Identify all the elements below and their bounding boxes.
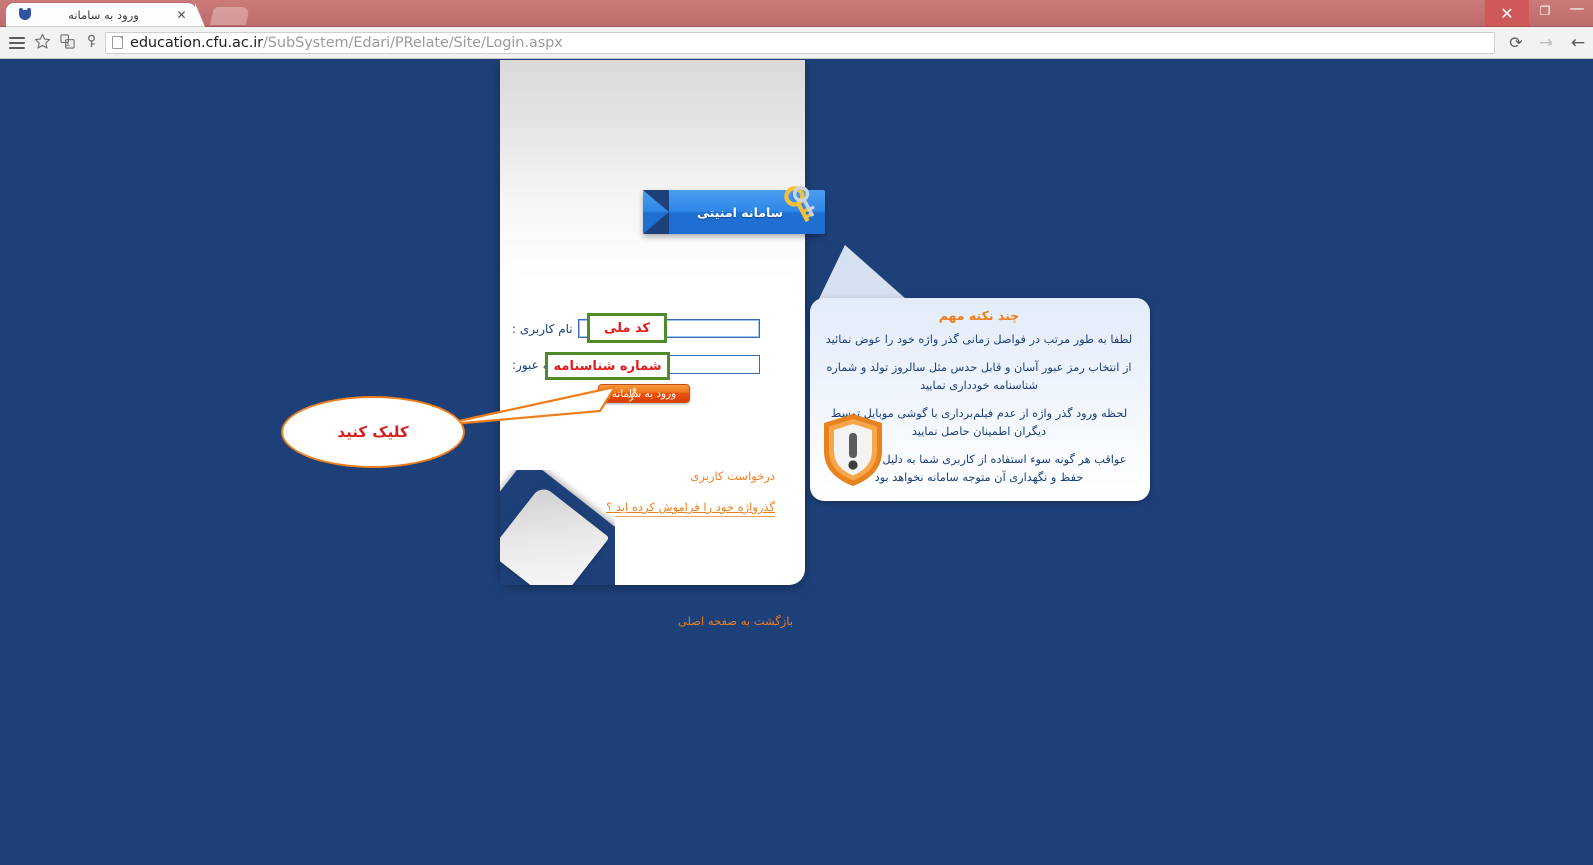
reload-icon: ⟳	[1509, 33, 1522, 52]
ribbon-label: سامانه امنیتی	[697, 205, 783, 220]
maximize-icon: ❐	[1540, 5, 1551, 17]
click-here-callout: کلیک کنید	[281, 396, 465, 468]
security-ribbon: سامانه امنیتی	[643, 190, 825, 234]
shield-warning-icon	[820, 411, 886, 489]
security-tips-panel: چند نکته مهم لطفا به طور مرتب در فواصل ز…	[810, 298, 1150, 501]
password-hint-annotation: شماره شناسنامه	[545, 352, 670, 380]
forgot-password-link[interactable]: گذرواژه خود را فراموش کرده اید ؟	[606, 500, 775, 514]
browser-toolbar: ← → ⟳ education.cfu.ac.ir/SubSystem/Edar…	[0, 27, 1593, 59]
page-info-icon[interactable]	[112, 36, 123, 49]
new-tab-button[interactable]	[210, 7, 250, 25]
window-controls: — ❐ ✕	[1485, 0, 1593, 27]
arrow-left-icon: ←	[1571, 33, 1585, 53]
page-viewport: سامانه امنیتی چند نک	[0, 60, 1593, 865]
divider	[615, 516, 775, 517]
omnibox-actions: A	[34, 33, 99, 53]
translate-icon[interactable]: A	[60, 34, 75, 52]
url-path: /SubSystem/Edari/PRelate/Site/Login.aspx	[263, 35, 563, 51]
minimize-icon: —	[1570, 1, 1585, 16]
svg-text:A: A	[66, 42, 70, 48]
tip-line: از انتخاب رمز عبور آسان و قابل حدس مثل س…	[824, 359, 1134, 396]
submit-label: ورود به سامانه	[612, 388, 677, 400]
url-text: education.cfu.ac.ir/SubSystem/Edari/PRel…	[130, 35, 563, 51]
forward-button[interactable]: →	[1531, 28, 1561, 58]
callout-label: کلیک کنید	[337, 423, 408, 441]
reload-button[interactable]: ⟳	[1501, 28, 1531, 58]
back-button[interactable]: ←	[1563, 28, 1593, 58]
username-label: نام کاربری :	[506, 322, 578, 336]
browser-tab[interactable]: ورود به سامانه ✕	[6, 3, 196, 27]
hamburger-icon	[9, 37, 25, 49]
back-home-link[interactable]: بازگشت به صفحه اصلی	[678, 614, 793, 628]
window-close-button[interactable]: ✕	[1485, 0, 1529, 27]
url-host: education.cfu.ac.ir	[130, 35, 263, 51]
tips-title: چند نکته مهم	[824, 308, 1134, 323]
arrow-right-icon: →	[1539, 33, 1553, 53]
key-icon[interactable]	[84, 34, 99, 52]
close-icon: ✕	[1500, 6, 1513, 22]
maximize-button[interactable]: ❐	[1529, 0, 1561, 22]
address-bar[interactable]: education.cfu.ac.ir/SubSystem/Edari/PRel…	[105, 32, 1495, 54]
tab-title: ورود به سامانه	[32, 8, 175, 22]
runner-icon	[626, 387, 641, 402]
browser-menu-button[interactable]	[0, 28, 34, 58]
keys-icon	[779, 184, 821, 230]
username-hint-annotation: کد ملی	[587, 313, 667, 343]
browser-window: ورود به سامانه ✕ — ❐ ✕ ← → ⟳ ed	[0, 0, 1593, 865]
app-favicon	[18, 8, 32, 22]
request-account-link[interactable]: درخواست کاربری	[690, 469, 775, 483]
minimize-button[interactable]: —	[1561, 0, 1593, 22]
bookmark-star-icon[interactable]	[34, 33, 51, 53]
tab-strip: ورود به سامانه ✕ — ❐ ✕	[0, 0, 1593, 27]
callout-pointer	[440, 385, 615, 430]
close-icon[interactable]: ✕	[175, 9, 188, 22]
tip-line: لطفا به طور مرتب در فواصل زمانی گذر واژه…	[824, 331, 1134, 350]
